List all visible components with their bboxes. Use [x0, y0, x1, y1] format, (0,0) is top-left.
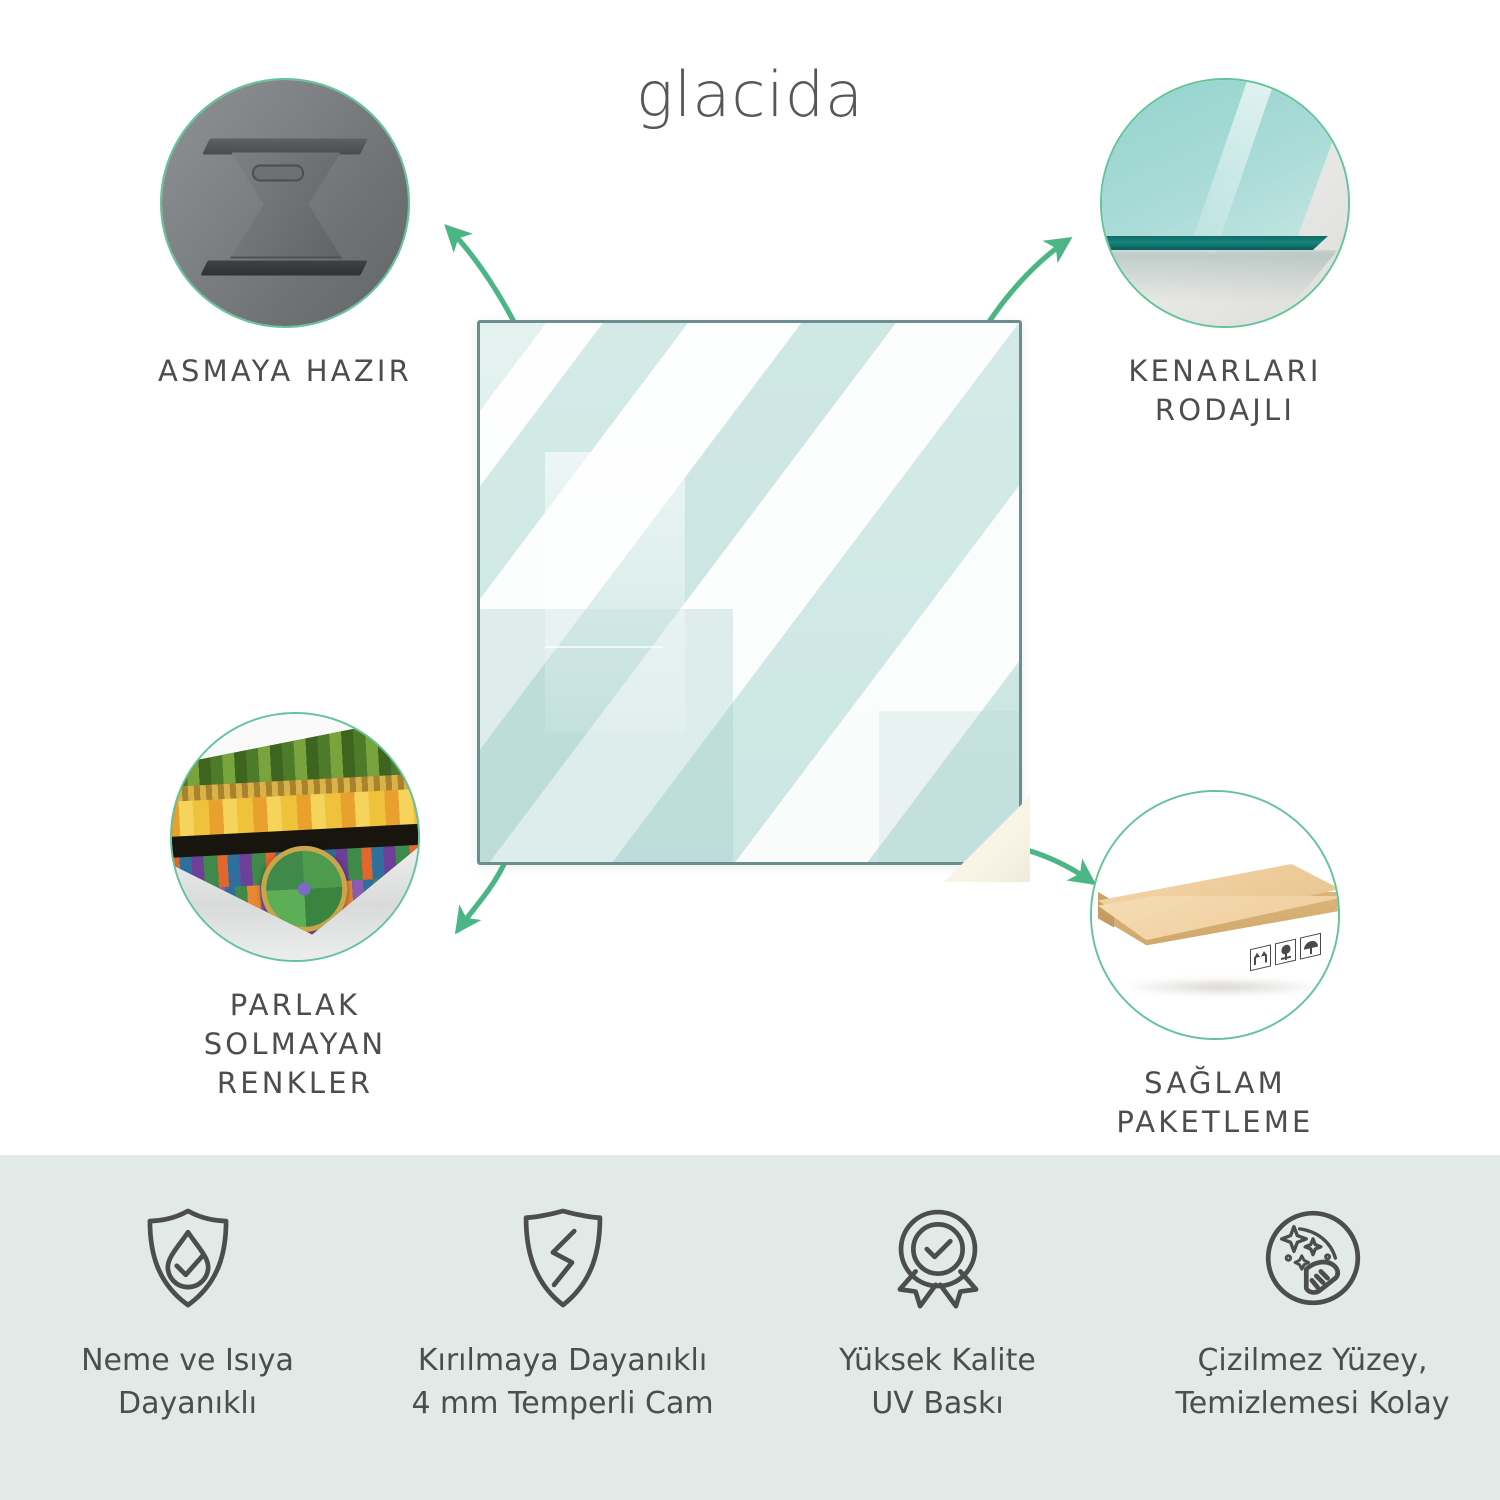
feature-label-ready-to-hang: ASMAYA HAZIR: [120, 352, 450, 391]
metal-hanging-bracket-photo: [160, 78, 410, 328]
benefit-line: Dayanıklı: [12, 1382, 364, 1425]
benefit-line: Temizlemesi Kolay: [1137, 1382, 1489, 1425]
benefit-line: Çizilmez Yüzey,: [1137, 1339, 1489, 1382]
cardboard-shipping-box-photo: [1090, 790, 1340, 1040]
label-line: KENARLARI: [1060, 352, 1390, 391]
glass-reflection-line: [545, 646, 664, 648]
feature-label-polished-edges: KENARLARI RODAJLI: [1060, 352, 1390, 430]
glass-reflection: [545, 452, 685, 732]
feature-polished-edges[interactable]: KENARLARI RODAJLI: [1060, 78, 1390, 430]
benefit-label: Yüksek Kalite UV Baskı: [762, 1339, 1114, 1425]
benefit-label: Kırılmaya Dayanıklı 4 mm Temperli Cam: [387, 1339, 739, 1425]
feature-label-vivid-colors: PARLAK SOLMAYAN RENKLER: [130, 986, 460, 1103]
benefits-strip: Neme ve Isıya Dayanıklı Kırılmaya Dayanı…: [0, 1155, 1500, 1500]
label-line: SOLMAYAN RENKLER: [130, 1025, 460, 1103]
feature-image-wrap: [1100, 78, 1350, 328]
benefit-label: Çizilmez Yüzey, Temizlemesi Kolay: [1137, 1339, 1489, 1425]
feature-image-wrap: [1090, 790, 1340, 1040]
shield-water-drop-check-icon: [12, 1199, 364, 1317]
benefit-label: Neme ve Isıya Dayanıklı: [12, 1339, 364, 1425]
arrow-to-vivid-colors: [458, 862, 505, 930]
feature-image-wrap: [170, 712, 420, 962]
label-line: SAĞLAM: [1050, 1064, 1380, 1103]
benefit-line: 4 mm Temperli Cam: [387, 1382, 739, 1425]
feature-image-wrap: [160, 78, 410, 328]
polished-glass-edge-photo: [1100, 78, 1350, 328]
benefit-high-quality-uv-print: Yüksek Kalite UV Baskı: [762, 1199, 1114, 1425]
label-line: RODAJLI: [1060, 391, 1390, 430]
benefit-scratch-free-easy-clean: Çizilmez Yüzey, Temizlemesi Kolay: [1137, 1199, 1489, 1425]
glass-panel-product[interactable]: [477, 320, 1022, 865]
benefit-line: Yüksek Kalite: [762, 1339, 1114, 1382]
label-line: ASMAYA HAZIR: [120, 352, 450, 391]
feature-label-sturdy-packaging: SAĞLAM PAKETLEME: [1050, 1064, 1380, 1142]
infographic-stage: glacida ASMAYA HAZIR: [0, 0, 1500, 1500]
benefit-line: UV Baskı: [762, 1382, 1114, 1425]
benefit-break-resistant: Kırılmaya Dayanıklı 4 mm Temperli Cam: [387, 1199, 739, 1425]
label-line: PARLAK: [130, 986, 460, 1025]
shield-lightning-bolt-icon: [387, 1199, 739, 1317]
feature-ready-to-hang[interactable]: ASMAYA HAZIR: [120, 78, 450, 391]
bracket-shape: [210, 121, 360, 286]
benefit-line: Neme ve Isıya: [12, 1339, 364, 1382]
benefit-line: Kırılmaya Dayanıklı: [387, 1339, 739, 1382]
award-badge-check-icon: [762, 1199, 1114, 1317]
sparkle-wiping-hand-icon: [1137, 1199, 1489, 1317]
label-line: PAKETLEME: [1050, 1103, 1380, 1142]
stained-glass-art-print-photo: [170, 712, 420, 962]
feature-vivid-colors[interactable]: PARLAK SOLMAYAN RENKLER: [130, 712, 460, 1103]
benefit-moisture-heat-resistant: Neme ve Isıya Dayanıklı: [12, 1199, 364, 1425]
feature-sturdy-packaging[interactable]: SAĞLAM PAKETLEME: [1050, 790, 1380, 1142]
